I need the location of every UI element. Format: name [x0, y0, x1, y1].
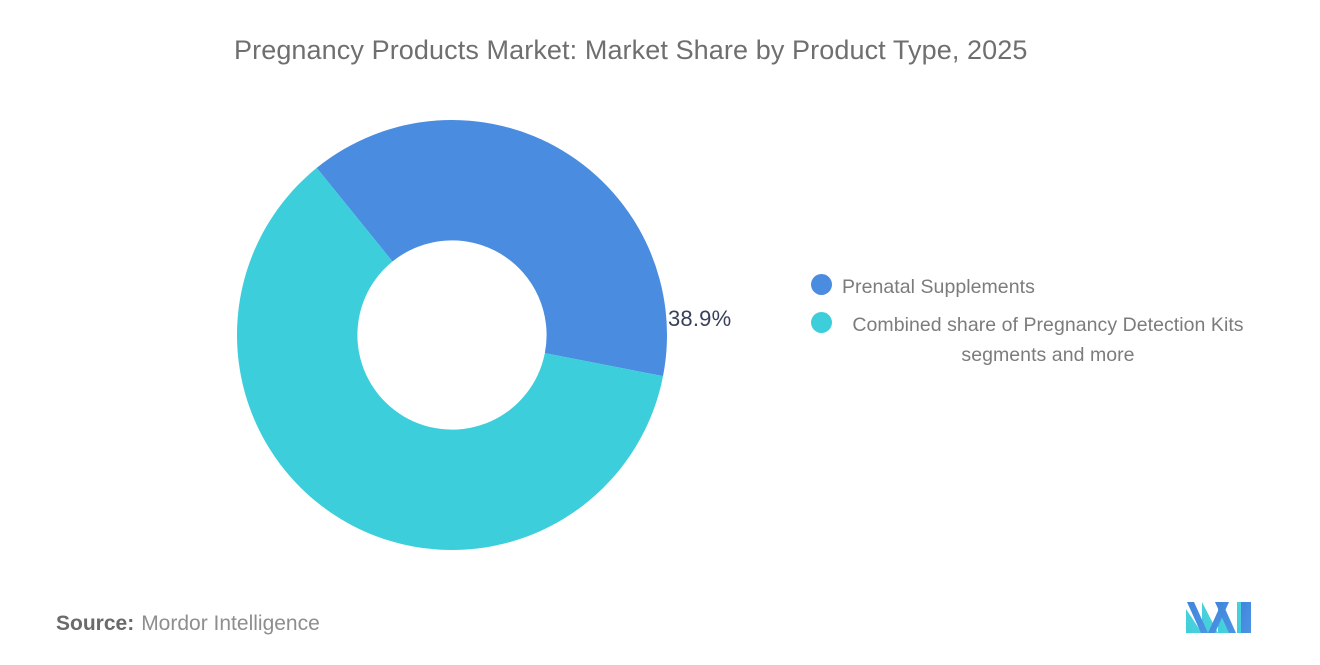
slice-data-label-prenatal-supplements: 38.9%: [668, 306, 731, 332]
legend-label-prenatal-supplements: Prenatal Supplements: [842, 272, 1035, 302]
source-value: Mordor Intelligence: [141, 612, 320, 635]
source-attribution: Source:Mordor Intelligence: [56, 612, 320, 636]
legend-swatch-icon-combined-share: [811, 312, 832, 333]
legend-swatch-icon-prenatal-supplements: [811, 274, 832, 295]
mordor-intelligence-logo-icon: [1185, 597, 1253, 635]
legend-item-prenatal-supplements[interactable]: Prenatal Supplements: [811, 272, 1281, 302]
logo-mark: [1185, 597, 1253, 635]
chart-canvas: Pregnancy Products Market: Market Share …: [0, 0, 1320, 665]
legend-label-combined-share: Combined share of Pregnancy Detection Ki…: [842, 310, 1254, 370]
source-label: Source:: [56, 612, 134, 635]
legend: Prenatal Supplements Combined share of P…: [811, 272, 1281, 378]
donut-chart: 38.9%: [237, 120, 667, 550]
legend-item-combined-share[interactable]: Combined share of Pregnancy Detection Ki…: [811, 310, 1281, 370]
donut-chart-svg: [237, 120, 667, 550]
page-title: Pregnancy Products Market: Market Share …: [234, 30, 1194, 70]
